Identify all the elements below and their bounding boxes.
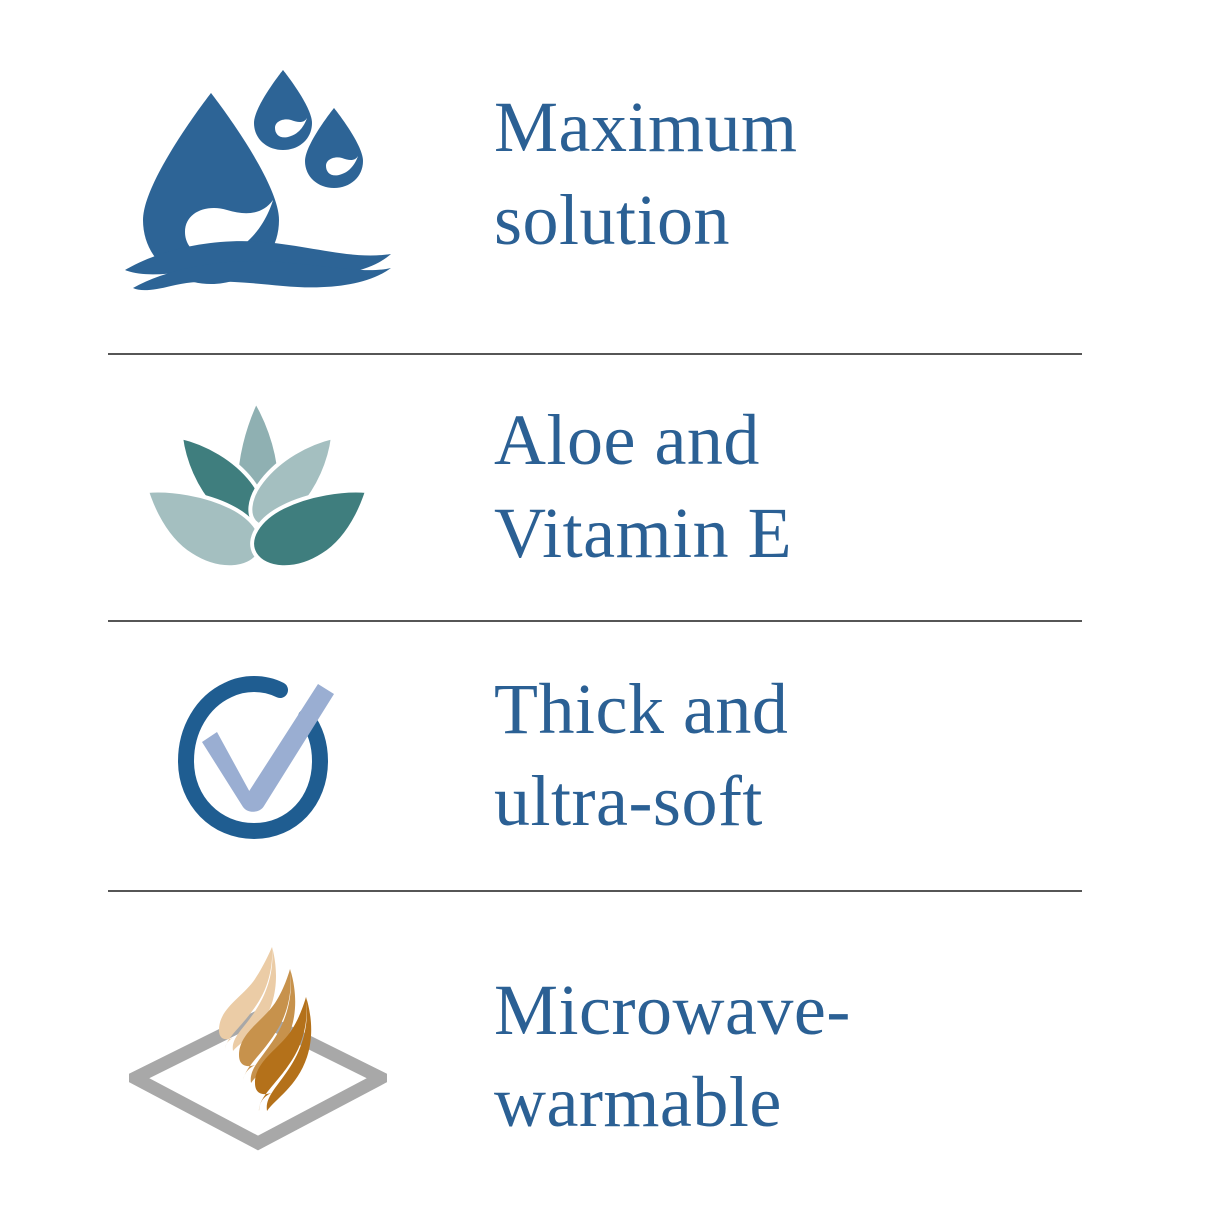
- benefit-label: Maximum solution: [408, 81, 1106, 265]
- benefit-label: Aloe and Vitamin E: [408, 394, 1106, 578]
- microwave-flame-icon: [108, 932, 408, 1172]
- water-droplet-icon: [108, 57, 408, 297]
- benefit-row: Thick and ultra-soft: [0, 620, 1214, 890]
- benefit-row: Aloe and Vitamin E: [0, 353, 1214, 620]
- aloe-plant-icon: [108, 367, 408, 607]
- benefit-label: Thick and ultra-soft: [408, 663, 1106, 847]
- benefit-label: Microwave- warmable: [408, 964, 1106, 1148]
- benefit-row: Microwave- warmable: [0, 890, 1214, 1214]
- checkmark-circle-icon: [108, 635, 408, 875]
- benefit-row: Maximum solution: [0, 0, 1214, 353]
- benefits-panel: Maximum solution Aloe and Vitamin E: [0, 0, 1214, 1214]
